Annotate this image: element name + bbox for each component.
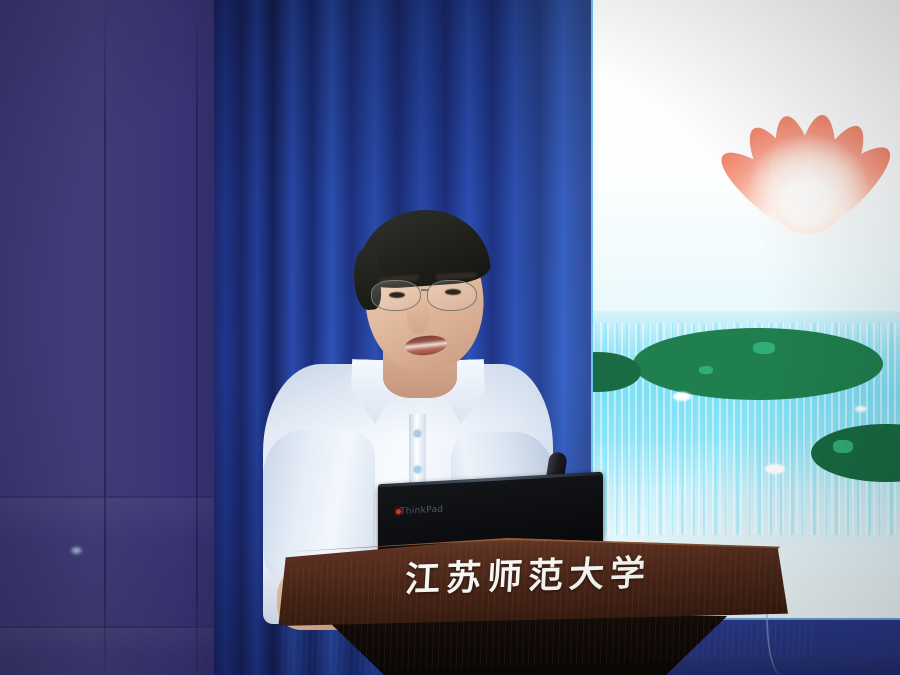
lotus-flower bbox=[713, 40, 900, 240]
water-highlight bbox=[673, 392, 691, 401]
speaker-nose bbox=[407, 300, 429, 334]
acoustic-wall-panel bbox=[0, 0, 232, 675]
water-highlight bbox=[855, 406, 867, 412]
lily-pad-main bbox=[633, 328, 883, 400]
eyeglasses bbox=[371, 280, 487, 314]
podium: 江苏师范大学 bbox=[268, 538, 816, 675]
water-highlight bbox=[765, 464, 785, 474]
podium-university-name: 江苏师范大学 bbox=[362, 555, 694, 599]
wall-light-reflection bbox=[70, 546, 83, 555]
projection-screen[interactable] bbox=[593, 0, 900, 622]
photo-scene: ThinkPad 江苏师范大学 bbox=[0, 0, 900, 675]
laptop-brand-label: ThinkPad bbox=[400, 505, 443, 517]
